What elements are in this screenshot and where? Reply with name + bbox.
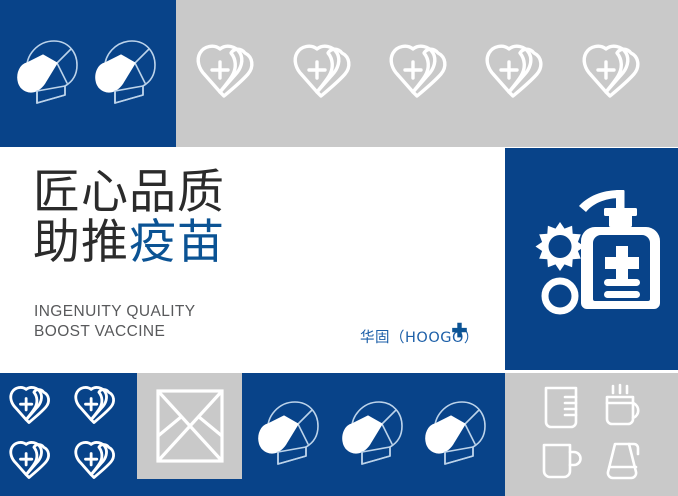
headline-line-1: 匠心品质 — [33, 168, 225, 218]
double-heart-plus-icon — [479, 45, 567, 103]
crossed-box-wrap — [137, 373, 242, 479]
sanitizer-icon-group — [505, 148, 678, 370]
double-heart-plus-icon — [70, 441, 132, 483]
main-content-panel: 匠心品质 助推疫苗 INGENUITY QUALITY BOOST VACCIN… — [0, 148, 505, 370]
masked-face-icon — [13, 35, 85, 113]
bottom-square-filler — [137, 479, 242, 496]
headline-line-2: 助推疫苗 — [33, 218, 225, 268]
plus-cross-icon — [450, 322, 469, 341]
subtitle-line-2: BOOST VACCINE — [34, 322, 196, 342]
kettle-icon — [599, 439, 645, 483]
poster-canvas: 匠心品质 助推疫苗 INGENUITY QUALITY BOOST VACCIN… — [0, 0, 678, 496]
mug-icon — [539, 439, 583, 483]
masked-face-icon — [421, 396, 493, 474]
steaming-mug-icon — [600, 384, 644, 432]
double-heart-plus-icon — [287, 45, 375, 103]
masked-face-icon — [91, 35, 163, 113]
top-mask-icon-row — [0, 0, 176, 147]
headline-line-2-blue: 疫苗 — [129, 215, 225, 270]
bottom-vessel-icon-grid — [505, 373, 678, 496]
headline-line-2-dark: 助推 — [33, 215, 129, 270]
masked-face-icon — [254, 396, 326, 474]
bottom-heart-icon-grid — [0, 373, 137, 496]
headline-block: 匠心品质 助推疫苗 — [33, 168, 225, 268]
bottom-mask-icon-row — [242, 373, 505, 496]
crossed-box-icon — [154, 387, 226, 465]
masked-face-icon — [338, 396, 410, 474]
double-heart-plus-icon — [70, 386, 132, 428]
double-heart-plus-icon — [5, 386, 67, 428]
subtitle-block: INGENUITY QUALITY BOOST VACCINE — [34, 302, 196, 342]
double-heart-plus-icon — [383, 45, 471, 103]
double-heart-plus-icon — [5, 441, 67, 483]
double-heart-plus-icon — [576, 45, 664, 103]
beaker-icon — [541, 384, 581, 432]
subtitle-line-1: INGENUITY QUALITY — [34, 302, 196, 322]
top-heart-icon-row — [176, 0, 678, 147]
double-heart-plus-icon — [190, 45, 278, 103]
